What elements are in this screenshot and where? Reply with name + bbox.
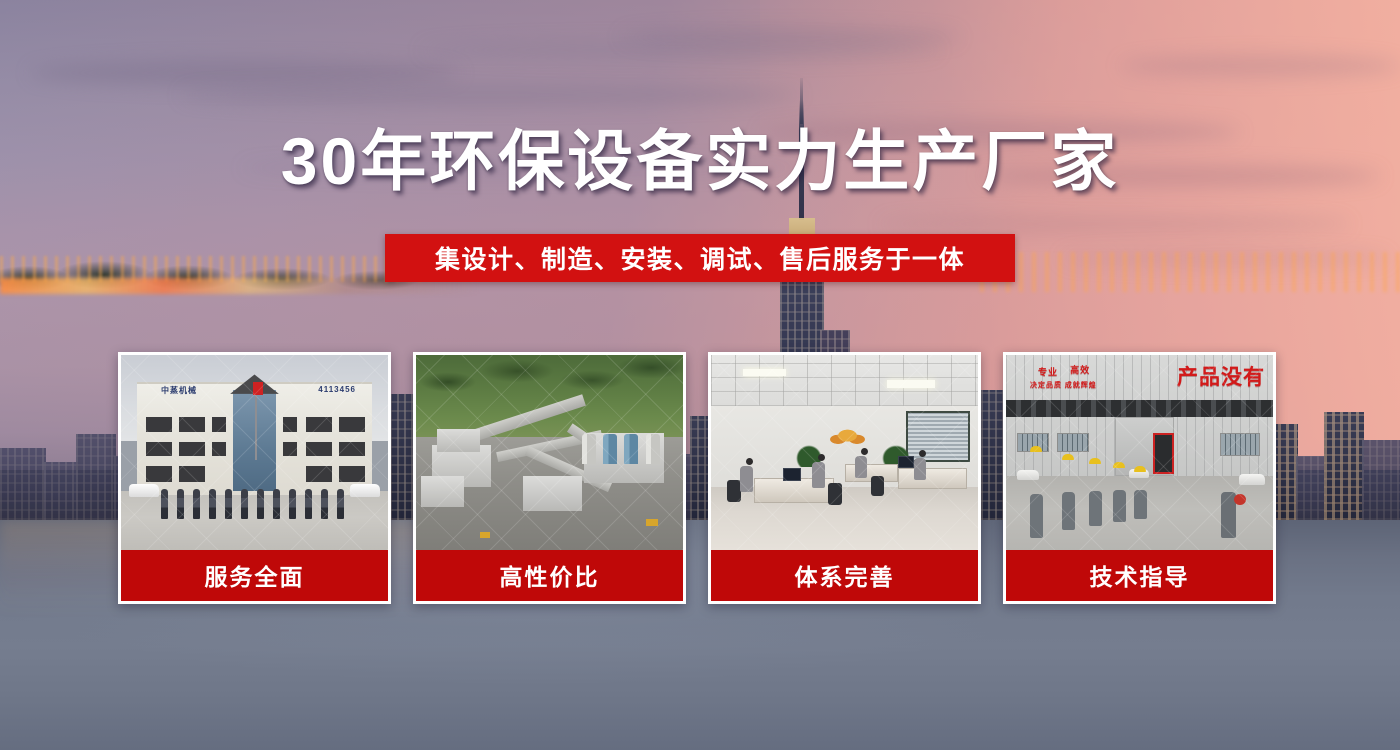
- feature-card[interactable]: 中蒸机械 4113456 服务全面: [118, 352, 391, 604]
- subtitle-banner: 集设计、制造、安装、调试、售后服务于一体: [385, 234, 1015, 282]
- office-interior-photo: [711, 355, 978, 550]
- hero-banner: 30年环保设备实力生产厂家 集设计、制造、安装、调试、售后服务于一体: [0, 0, 1400, 750]
- cloud-streak: [180, 84, 800, 106]
- company-headquarters-photo: 中蒸机械 4113456: [121, 355, 388, 550]
- cloud-streak: [880, 215, 1350, 233]
- feature-card-row: 中蒸机械 4113456 服务全面: [118, 352, 1282, 604]
- factory-workers-photo: 产品没有 专业 高效 决定品质 成就辉煌: [1006, 355, 1273, 550]
- cloud-streak: [30, 60, 460, 86]
- card-caption: 技术指导: [1006, 550, 1273, 601]
- factory-slogan-2: 高效: [1070, 363, 1090, 376]
- card-caption: 体系完善: [711, 550, 978, 601]
- building-phone-text: 4113456: [318, 385, 356, 394]
- factory-slogan-3: 决定品质: [1030, 380, 1062, 390]
- right-waterfront-lights: [980, 252, 1400, 292]
- building-sign-text: 中蒸机械: [161, 385, 197, 396]
- card-caption: 服务全面: [121, 550, 388, 601]
- headline-title: 30年环保设备实力生产厂家: [0, 128, 1400, 194]
- feature-card[interactable]: 高性价比: [413, 352, 686, 604]
- factory-slogan-4: 成就辉煌: [1065, 380, 1097, 390]
- factory-slogan-1: 专业: [1038, 365, 1058, 378]
- industrial-plant-photo: [416, 355, 683, 550]
- subtitle-text: 集设计、制造、安装、调试、售后服务于一体: [435, 240, 965, 276]
- cloud-streak: [1120, 55, 1400, 77]
- card-caption: 高性价比: [416, 550, 683, 601]
- cloud-streak: [620, 28, 960, 46]
- feature-card[interactable]: 体系完善: [708, 352, 981, 604]
- feature-card[interactable]: 产品没有 专业 高效 决定品质 成就辉煌: [1003, 352, 1276, 604]
- factory-slogan-main: 产品没有: [1177, 361, 1265, 391]
